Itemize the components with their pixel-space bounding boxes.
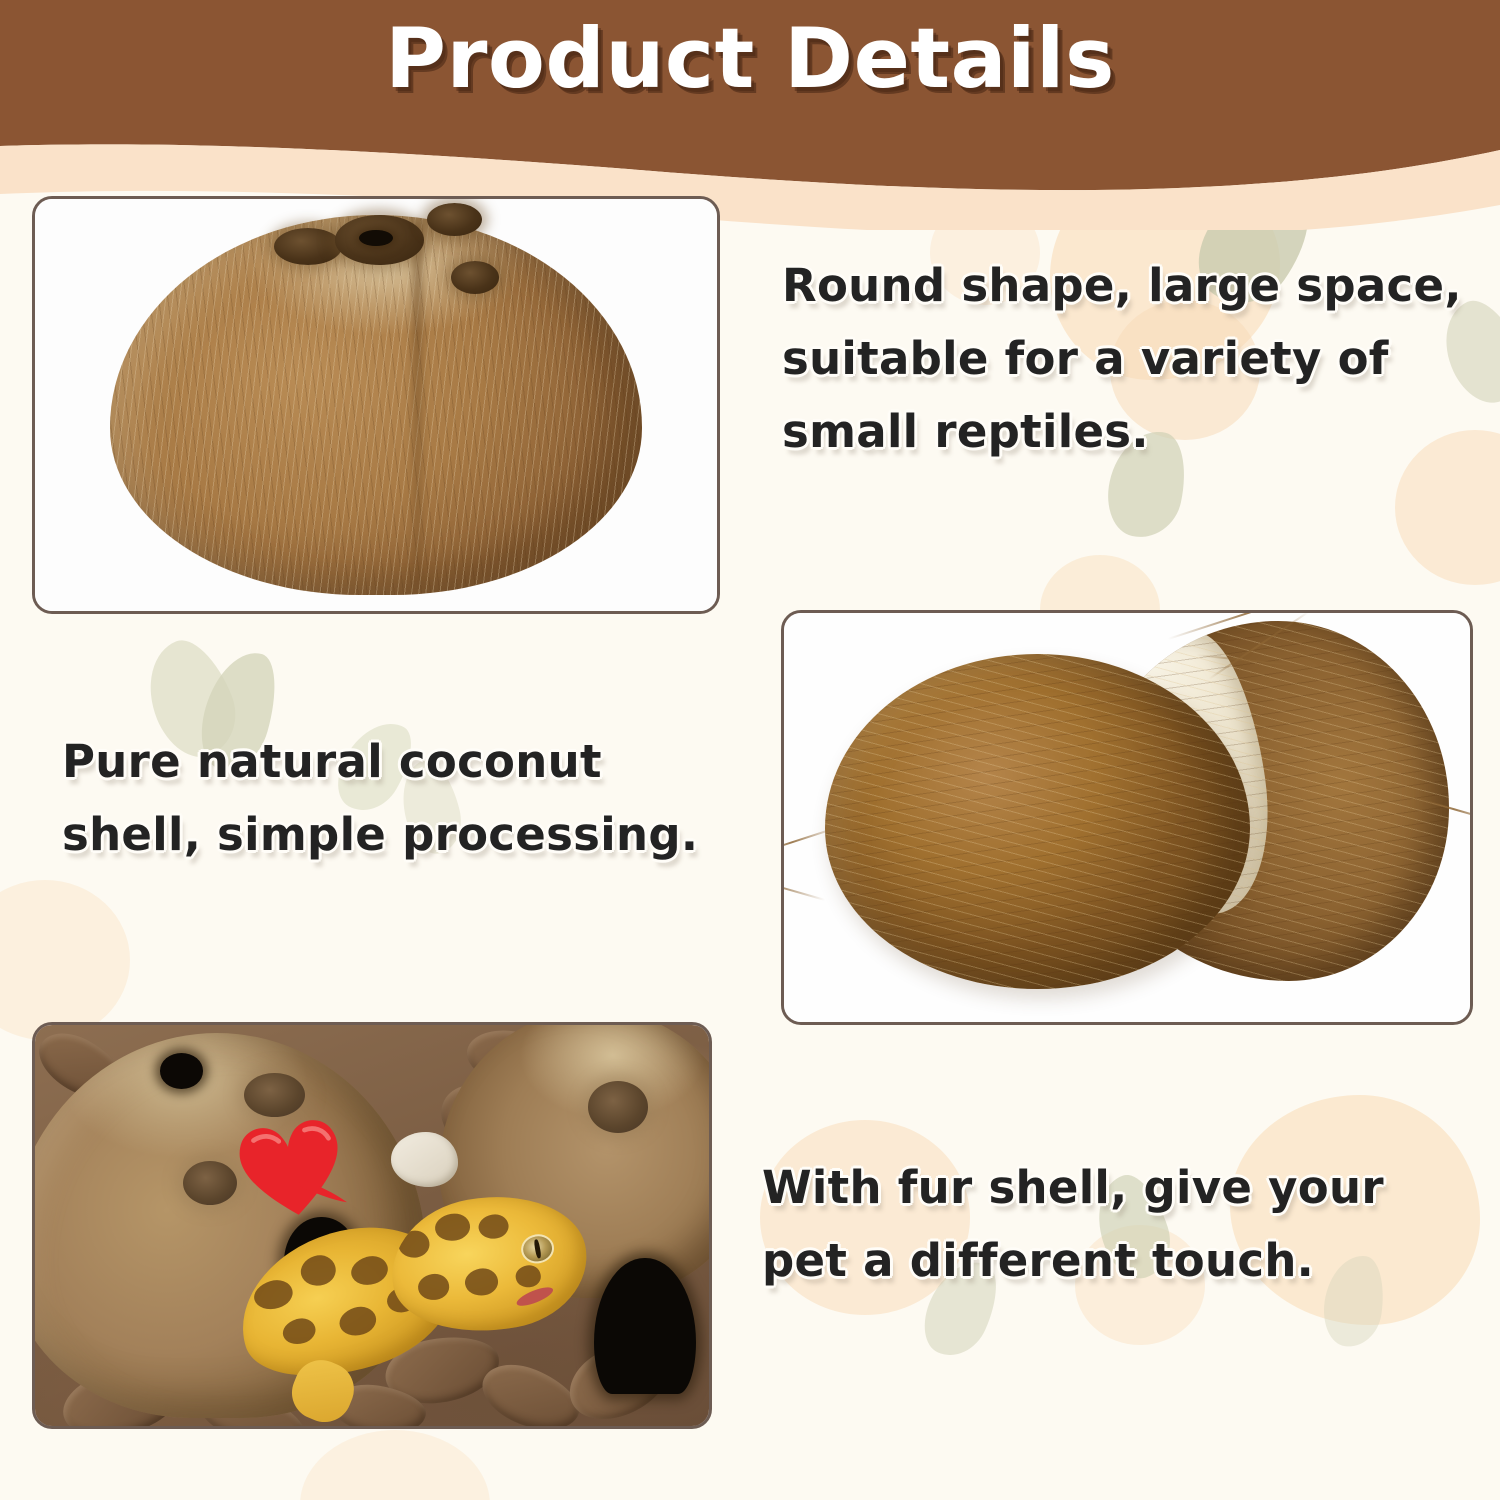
whole-and-cracked-coconut-photo xyxy=(784,613,1470,1022)
leopard-gecko-with-coconut-hides-photo xyxy=(35,1025,709,1426)
gecko-eye xyxy=(519,1231,557,1266)
whole-coconut xyxy=(825,654,1250,989)
gecko-shed-skin xyxy=(391,1132,458,1187)
coconut-eye-spot xyxy=(274,228,342,265)
coconut-shell-dome-photo xyxy=(35,199,717,611)
product-image-frame-3[interactable] xyxy=(32,1022,712,1429)
feature-caption-2: Pure natural coconut shell, simple proce… xyxy=(62,726,702,872)
gecko-pupil xyxy=(534,1239,542,1259)
gecko-mouth xyxy=(515,1283,556,1309)
page-title: Product Details xyxy=(0,10,1500,107)
coconut-eye-spot xyxy=(451,261,499,294)
product-image-frame-1[interactable] xyxy=(32,196,720,614)
product-image-frame-2[interactable] xyxy=(781,610,1473,1025)
feature-caption-3: With fur shell, give your pet a differen… xyxy=(762,1152,1462,1298)
feature-caption-1: Round shape, large space, suitable for a… xyxy=(782,250,1472,469)
coconut-eye-spot xyxy=(427,203,482,236)
product-details-page: Product Details Round shape, large space… xyxy=(0,0,1500,1500)
flower-blob xyxy=(300,1430,490,1500)
flower-blob xyxy=(0,880,130,1040)
coconut-eye-spot xyxy=(588,1081,649,1133)
